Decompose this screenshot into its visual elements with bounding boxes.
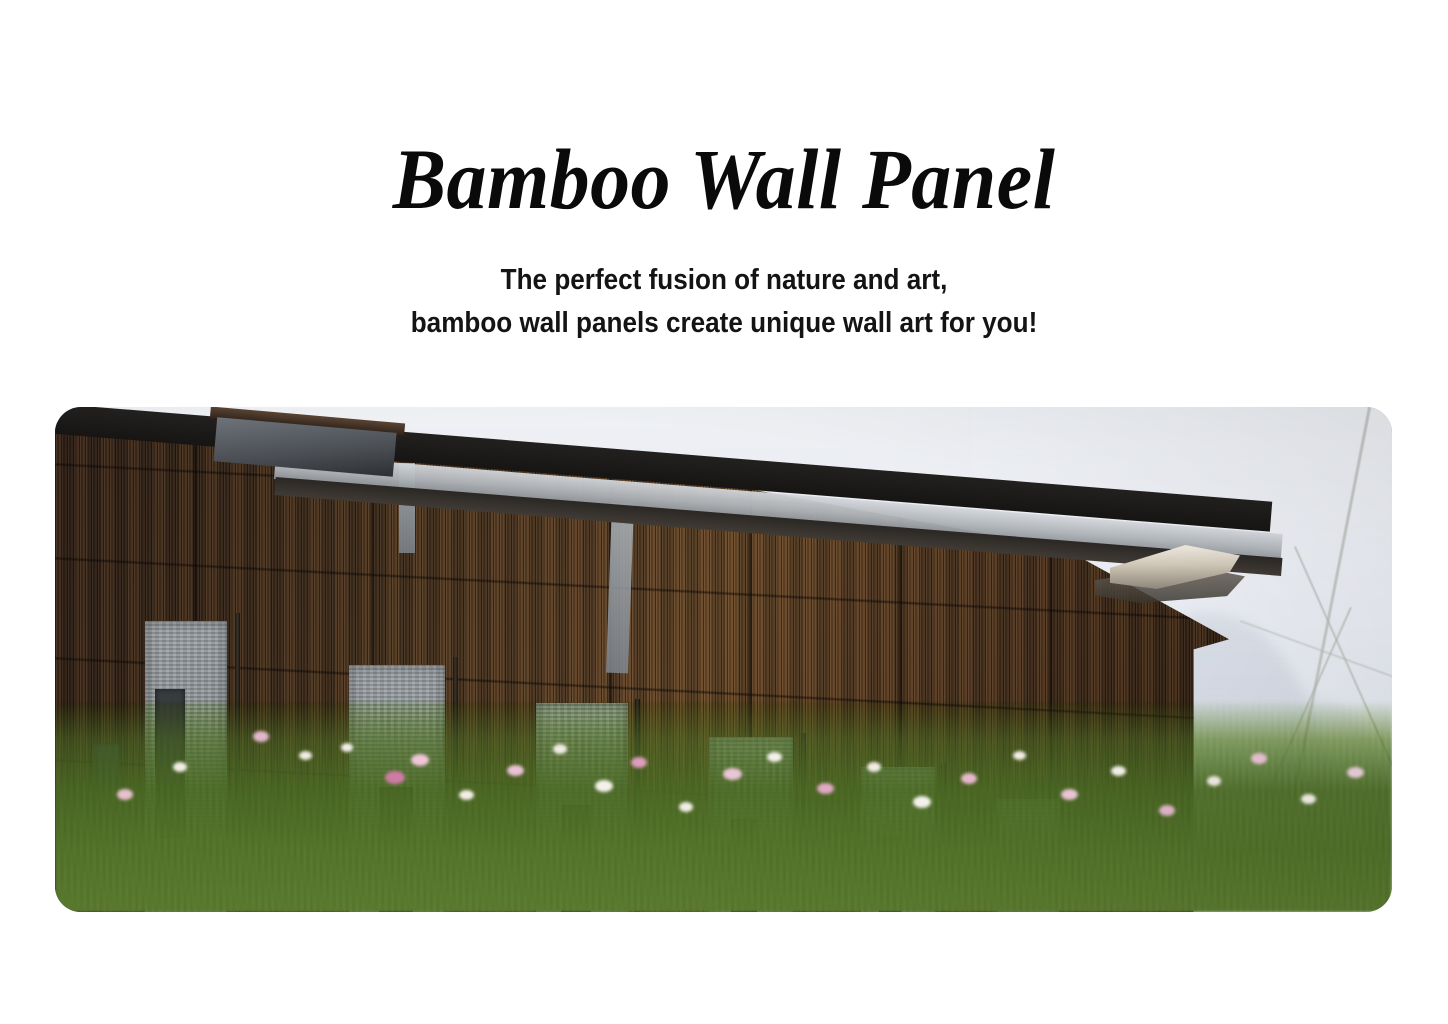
flower [1111, 766, 1126, 776]
flower [595, 780, 613, 792]
flower [961, 773, 977, 784]
hero-image [55, 407, 1392, 912]
flower [679, 802, 693, 812]
flower [1347, 767, 1364, 778]
flower [817, 783, 834, 794]
flower [1061, 789, 1078, 800]
hero-photo [55, 407, 1392, 912]
flower [117, 789, 133, 800]
flower [341, 743, 353, 752]
flower [913, 796, 931, 808]
flower [1251, 753, 1267, 764]
flower [385, 771, 405, 784]
flower [507, 765, 524, 776]
flower [631, 757, 647, 768]
flower [1301, 794, 1316, 804]
flower [723, 768, 742, 780]
flower [173, 762, 187, 772]
flower [299, 751, 312, 760]
page-title: Bamboo Wall Panel [51, 136, 1398, 222]
flower [1207, 776, 1221, 786]
flower [253, 731, 269, 742]
flower [553, 744, 567, 754]
hero-page: Bamboo Wall Panel The perfect fusion of … [0, 0, 1448, 1024]
flower [411, 754, 429, 766]
flower [767, 752, 782, 762]
flower [459, 790, 474, 800]
flower [867, 762, 881, 772]
subtitle-line-2: bamboo wall panels create unique wall ar… [72, 302, 1375, 345]
subtitle-line-1: The perfect fusion of nature and art, [72, 259, 1375, 302]
flower [1013, 751, 1026, 760]
page-subtitle: The perfect fusion of nature and art, ba… [72, 259, 1375, 345]
flower [1159, 805, 1175, 816]
